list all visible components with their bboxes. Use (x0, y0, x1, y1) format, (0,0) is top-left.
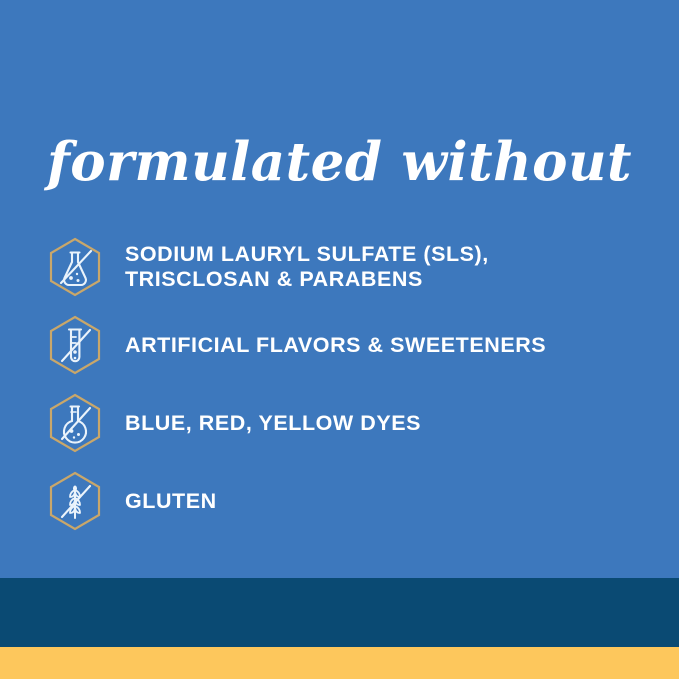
formulated-without-poster: formulated without SODIUM LAURYL SULFATE… (0, 0, 679, 679)
list-item: BLUE, RED, YELLOW DYES (44, 384, 644, 462)
no-wheat-icon (44, 470, 106, 532)
list-item: SODIUM LAURYL SULFATE (SLS), TRISCLOSAN … (44, 228, 644, 306)
list-item-label: ARTIFICIAL FLAVORS & SWEETENERS (125, 333, 644, 358)
gold-band (0, 647, 679, 679)
no-round-flask-icon (44, 392, 106, 454)
list-item: ARTIFICIAL FLAVORS & SWEETENERS (44, 306, 644, 384)
no-erlenmeyer-flask-icon (44, 236, 106, 298)
list-item-label: SODIUM LAURYL SULFATE (SLS), TRISCLOSAN … (125, 242, 644, 293)
list-item-label: BLUE, RED, YELLOW DYES (125, 411, 644, 436)
page-title: formulated without (0, 131, 679, 193)
excluded-ingredients-list: SODIUM LAURYL SULFATE (SLS), TRISCLOSAN … (44, 228, 644, 540)
list-item-label: GLUTEN (125, 489, 644, 514)
list-item: GLUTEN (44, 462, 644, 540)
navy-band (0, 578, 679, 647)
no-test-tube-icon (44, 314, 106, 376)
